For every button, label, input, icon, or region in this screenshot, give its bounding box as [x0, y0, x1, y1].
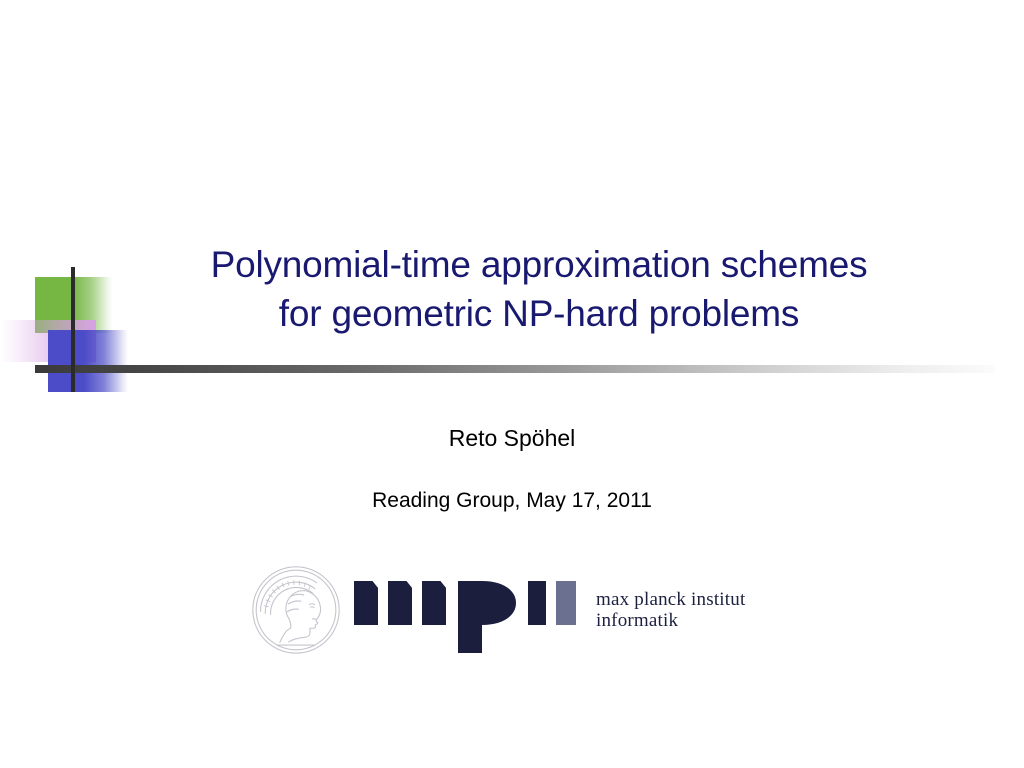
presentation-slide: Polynomial-time approximation schemes fo… [0, 0, 1024, 768]
mpi-institute-name-line-1: max planck institut [596, 589, 745, 610]
author-name: Reto Spöhel [0, 423, 1024, 453]
event-and-date: Reading Group, May 17, 2011 [0, 487, 1024, 515]
mpi-wordmark-icon [354, 567, 578, 653]
vertical-rule-decoration [71, 267, 75, 392]
slide-title-line-1: Polynomial-time approximation schemes [120, 240, 958, 289]
mpi-institute-name: max planck institut informatik [596, 589, 745, 631]
mpi-logo: max planck institut informatik [248, 560, 788, 660]
slide-title: Polynomial-time approximation schemes fo… [120, 240, 958, 338]
slide-title-line-2: for geometric NP-hard problems [120, 289, 958, 338]
mpi-institute-name-line-2: informatik [596, 610, 745, 631]
horizontal-rule-decoration [35, 365, 995, 373]
blue-square-decoration [48, 330, 128, 392]
pink-block-decoration [0, 320, 96, 362]
green-square-decoration [35, 277, 113, 333]
minerva-head-seal-icon [248, 562, 344, 658]
